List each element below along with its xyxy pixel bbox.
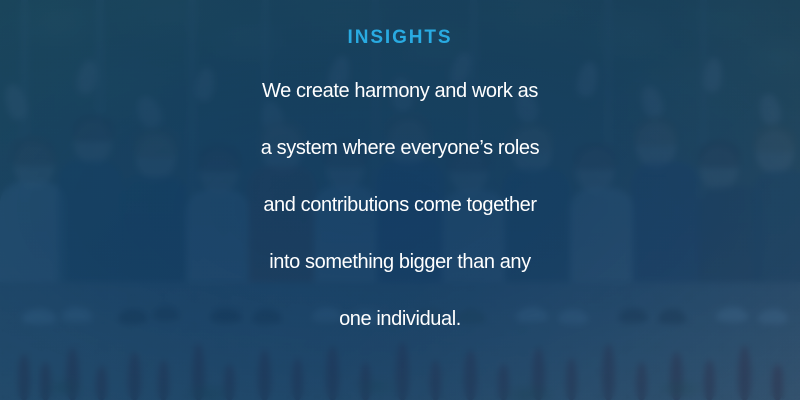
insights-quote-slide: INSIGHTS We create harmony and work as a… <box>0 0 800 400</box>
headline-quote: We create harmony and work as a system w… <box>16 63 784 348</box>
headline-line-4: into something bigger than any <box>16 234 784 291</box>
slide-content: INSIGHTS We create harmony and work as a… <box>0 0 800 400</box>
headline-line-3: and contributions come together <box>16 177 784 234</box>
eyebrow-label: INSIGHTS <box>348 28 453 47</box>
headline-line-5: one individual. <box>16 291 784 348</box>
headline-line-1: We create harmony and work as <box>16 63 784 120</box>
headline-line-2: a system where everyone’s roles <box>16 120 784 177</box>
